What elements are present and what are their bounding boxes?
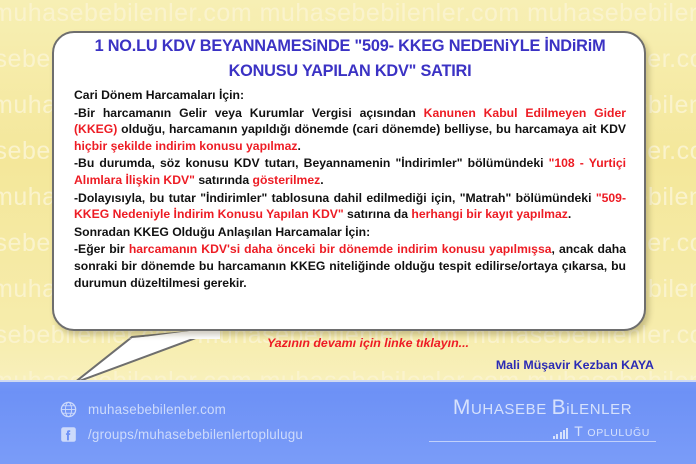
brand-logo-line1: MUHASEBE BiLENLER: [425, 396, 660, 422]
footer-website-label: muhasebebilenler.com: [88, 402, 226, 417]
paragraph-1: -Bir harcamanın Gelir veya Kurumlar Verg…: [74, 105, 626, 155]
facebook-icon: [60, 426, 77, 443]
brand-logo-line2: TOPLULUĞU: [425, 423, 660, 439]
paragraph-4: -Eğer bir harcamanın KDV'si daha önceki …: [74, 241, 626, 291]
footer-website-row[interactable]: muhasebebilenler.com: [60, 401, 226, 418]
logo-underline: [429, 441, 656, 442]
speech-bubble-tail: [70, 325, 230, 387]
highlight-no-deduction: hiçbir şekilde indirim konusu yapılmaz: [74, 139, 298, 153]
section-heading-current-period: Cari Dönem Harcamaları İçin:: [74, 87, 626, 104]
poster-canvas: muhasebebilenler.com muhasebebilenler.co…: [0, 0, 696, 464]
footer-bar: muhasebebilenler.com /groups/muhasebebil…: [0, 380, 696, 464]
brand-logo: MUHASEBE BiLENLER TOPLULUĞU: [425, 396, 660, 439]
page-title: 1 NO.LU KDV BEYANNAMESiNDE "509- KKEG NE…: [62, 34, 638, 87]
read-more-link[interactable]: Yazının devamı için linke tıklayın...: [0, 336, 654, 350]
bar-chart-icon: [553, 428, 568, 439]
bubble-content: 1 NO.LU KDV BEYANNAMESiNDE "509- KKEG NE…: [62, 34, 638, 292]
highlight-not-shown: gösterilmez: [253, 173, 321, 187]
logo-oplulugu: OPLULUĞU: [587, 427, 650, 439]
highlight-no-entry: herhangi bir kayıt yapılmaz: [411, 207, 567, 221]
logo-b: B: [552, 396, 567, 419]
paragraph-2: -Bu durumda, söz konusu KDV tutarı, Beya…: [74, 155, 626, 188]
logo-uhasebe: UHASEBE: [471, 401, 552, 418]
footer-facebook-label: /groups/muhasebebilenlertoplulugu: [88, 427, 303, 442]
globe-icon: [60, 401, 77, 418]
footer-facebook-row[interactable]: /groups/muhasebebilenlertoplulugu: [60, 426, 303, 443]
highlight-previously-deducted: harcamanın KDV'si daha önceki bir dönemd…: [129, 242, 552, 256]
highlight-kkeg-definition: Kanunen Kabul Edilmeyen Gider (KKEG): [74, 106, 626, 137]
paragraph-3: -Dolayısıyla, bu tutar "İndirimler" tabl…: [74, 190, 626, 223]
body-text: Cari Dönem Harcamaları İçin: -Bir harcam…: [62, 87, 638, 291]
logo-t: T: [574, 423, 583, 439]
author-signature: Mali Müşavir Kezban KAYA: [0, 358, 654, 372]
logo-m: M: [453, 396, 471, 419]
highlight-line-108: "108 - Yurtiçi Alımlara İlişkin KDV": [74, 156, 626, 187]
section-heading-later-period: Sonradan KKEG Olduğu Anlaşılan Harcamala…: [74, 224, 626, 241]
logo-ilenler: iLENLER: [566, 401, 632, 418]
